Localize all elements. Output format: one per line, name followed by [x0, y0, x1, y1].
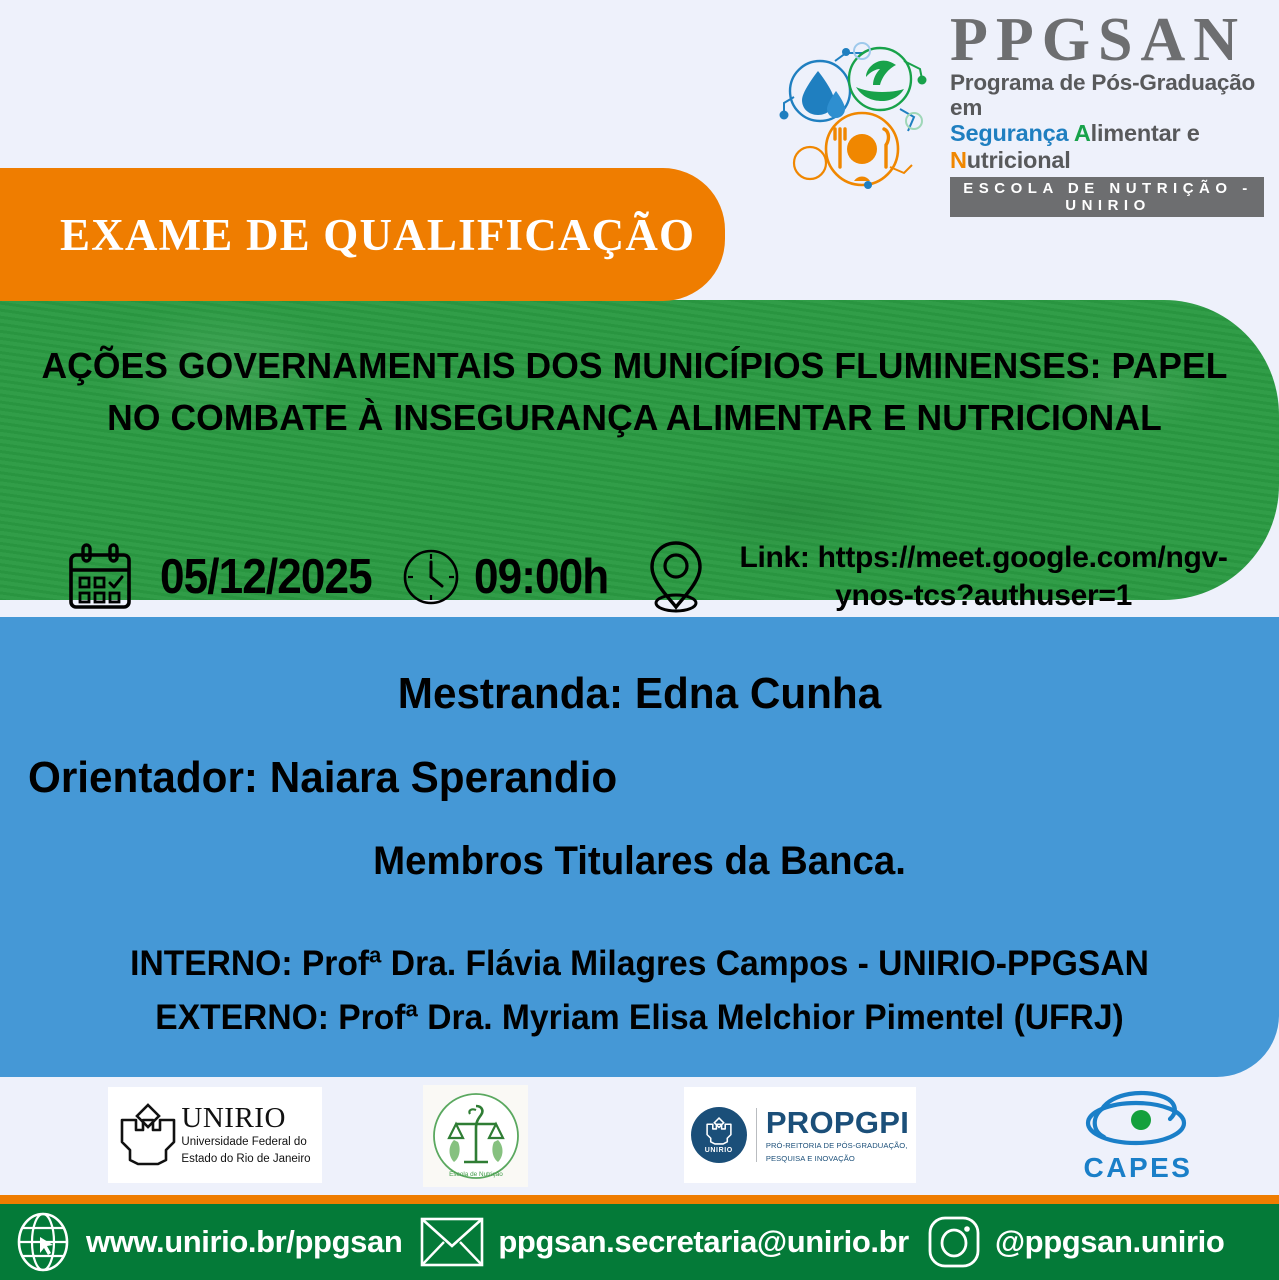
footer-instagram-group[interactable]: @ppgsan.unirio	[925, 1213, 1225, 1271]
unirio-sub-line1: Universidade Federal do	[181, 1135, 310, 1149]
footer-website: www.unirio.br/ppgsan	[86, 1224, 402, 1260]
propgpi-unirio-badge-icon: UNIRIO	[691, 1107, 747, 1163]
propgpi-logo: UNIRIO PROPGPI PRÓ-REITORIA DE PÓS-GRADU…	[684, 1087, 916, 1183]
unirio-logo: UNIRIO Universidade Federal do Estado do…	[108, 1087, 322, 1183]
globe-icon	[12, 1211, 74, 1273]
ppgsan-subtitle-line1: Programa de Pós-Graduação em	[950, 70, 1264, 120]
location-pin-icon	[640, 537, 712, 617]
footer-email: ppgsan.secretaria@unirio.br	[498, 1224, 909, 1260]
time-group: 09:00h	[395, 546, 623, 608]
footer-instagram: @ppgsan.unirio	[995, 1224, 1225, 1260]
footer-website-group[interactable]: www.unirio.br/ppgsan	[12, 1211, 402, 1273]
propgpi-name: PROPGPI	[766, 1107, 909, 1138]
capes-name: CAPES	[1084, 1152, 1193, 1184]
calendar-icon	[62, 539, 138, 615]
presentation-title-line2: NO COMBATE À INSEGURANÇA ALIMENTAR E NUT…	[25, 392, 1243, 444]
event-date: 05/12/2025	[160, 549, 372, 605]
external-value: Profª Dra. Myriam Elisa Melchior Pimente…	[329, 998, 1124, 1037]
contact-footer: www.unirio.br/ppgsan ppgsan.secretaria@u…	[0, 1204, 1279, 1280]
committee-external-member: EXTERNO: Profª Dra. Myriam Elisa Melchio…	[26, 998, 1254, 1038]
details-blue-block: Mestranda: Edna Cunha Orientador: Naiara…	[0, 617, 1279, 1077]
unirio-sub-line2: Estado do Rio de Janeiro	[181, 1152, 310, 1166]
committee-heading: Membros Titulares da Banca.	[26, 839, 1254, 884]
presentation-title: AÇÕES GOVERNAMENTAIS DOS MUNICÍPIOS FLUM…	[25, 340, 1243, 444]
orientador-line: Orientador: Naiara Sperandio	[28, 753, 617, 803]
svg-text:Escola de Nutrição: Escola de Nutrição	[449, 1171, 503, 1178]
escola-nutricao-seal-icon: Escola de Nutrição	[430, 1090, 522, 1182]
footer-orange-divider	[0, 1195, 1279, 1204]
presentation-title-line1: AÇÕES GOVERNAMENTAIS DOS MUNICÍPIOS FLUM…	[25, 340, 1243, 392]
unirio-mark-icon	[119, 1102, 177, 1168]
date-group: 05/12/2025	[0, 539, 395, 615]
ppgsan-logo: PPGSAN Programa de Pós-Graduação em Segu…	[772, 34, 1264, 194]
event-info-row: 05/12/2025 09:00h Link: https://meet.go	[0, 528, 1279, 626]
internal-label: INTERNO:	[130, 944, 292, 983]
propgpi-unirio-mark-icon	[704, 1116, 734, 1146]
ppgsan-wordmark: PPGSAN	[950, 11, 1264, 70]
propgpi-badge-label: UNIRIO	[705, 1147, 733, 1154]
capes-logo: CAPES	[1063, 1083, 1213, 1187]
capes-mark-icon	[1078, 1087, 1198, 1151]
meeting-link-line2: ynos-tcs?authuser=1	[835, 579, 1132, 612]
meeting-link[interactable]: Link: https://meet.google.com/ngv- ynos-…	[724, 539, 1244, 615]
mestranda-line: Mestranda: Edna Cunha	[26, 669, 1254, 719]
ppgsan-school-label: ESCOLA DE NUTRIÇÃO - UNIRIO	[950, 177, 1264, 217]
propgpi-sub-line1: PRÓ-REITORIA DE PÓS-GRADUAÇÃO,	[766, 1141, 909, 1151]
poster-canvas: PPGSAN Programa de Pós-Graduação em Segu…	[0, 0, 1279, 1280]
ppgsan-logo-mark	[772, 39, 940, 189]
instagram-icon	[925, 1213, 983, 1271]
internal-value: Profª Dra. Flávia Milagres Campos - UNIR…	[293, 944, 1149, 983]
event-type-label: EXAME DE QUALIFICAÇÃO	[60, 209, 695, 261]
footer-email-group[interactable]: ppgsan.secretaria@unirio.br	[418, 1213, 909, 1271]
clock-icon	[400, 546, 462, 608]
location-group: Link: https://meet.google.com/ngv- ynos-…	[624, 537, 1244, 617]
meeting-link-line1: Link: https://meet.google.com/ngv-	[739, 541, 1227, 574]
propgpi-divider	[756, 1108, 757, 1162]
ppgsan-logo-text: PPGSAN Programa de Pós-Graduação em Segu…	[950, 11, 1264, 217]
unirio-name: UNIRIO	[181, 1104, 310, 1133]
escola-nutricao-logo: Escola de Nutrição	[423, 1085, 528, 1187]
sponsor-logo-strip: UNIRIO Universidade Federal do Estado do…	[0, 1077, 1279, 1195]
event-type-banner: EXAME DE QUALIFICAÇÃO	[0, 168, 725, 301]
external-label: EXTERNO:	[155, 998, 329, 1037]
ppgsan-subtitle-line2: Segurança Alimentar e Nutricional	[950, 120, 1264, 173]
committee-internal-member: INTERNO: Profª Dra. Flávia Milagres Camp…	[26, 944, 1254, 984]
envelope-icon	[418, 1213, 486, 1271]
propgpi-sub-line2: PESQUISA E INOVAÇÃO	[766, 1154, 909, 1164]
event-time: 09:00h	[474, 549, 608, 605]
